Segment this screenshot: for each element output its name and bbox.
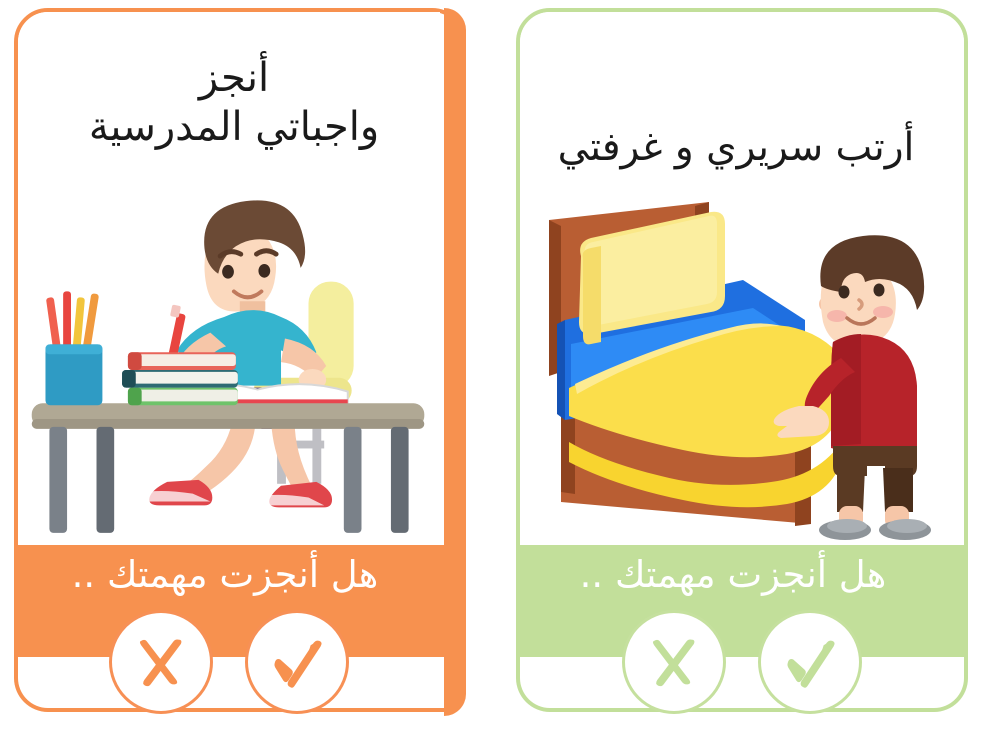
choice-no-button[interactable] xyxy=(622,610,726,714)
card-prompt-text: هل أنجزت مهمتك .. xyxy=(516,555,950,596)
check-icon xyxy=(266,631,328,693)
card-prompt-text: هل أنجزت مهمتك .. xyxy=(14,555,436,596)
flashcard-board: أنجز واجباتي المدرسية xyxy=(0,0,1000,740)
cross-icon xyxy=(130,631,192,693)
check-icon xyxy=(779,631,841,693)
cross-icon xyxy=(643,631,705,693)
illustration-homework xyxy=(18,192,440,542)
card-title: أنجز واجباتي المدرسية xyxy=(36,54,432,152)
illustration-bedroom xyxy=(520,192,964,542)
task-card-homework[interactable]: أنجز واجباتي المدرسية xyxy=(14,8,466,708)
card-title: أرتب سريري و غرفتي xyxy=(538,124,934,172)
choice-yes-button[interactable] xyxy=(758,610,862,714)
choice-group xyxy=(18,610,440,714)
choice-yes-button[interactable] xyxy=(245,610,349,714)
card-foot-spine xyxy=(444,657,466,716)
choice-no-button[interactable] xyxy=(109,610,213,714)
choice-group xyxy=(520,610,964,714)
task-card-bedroom[interactable]: أرتب سريري و غرفتي xyxy=(516,8,968,708)
